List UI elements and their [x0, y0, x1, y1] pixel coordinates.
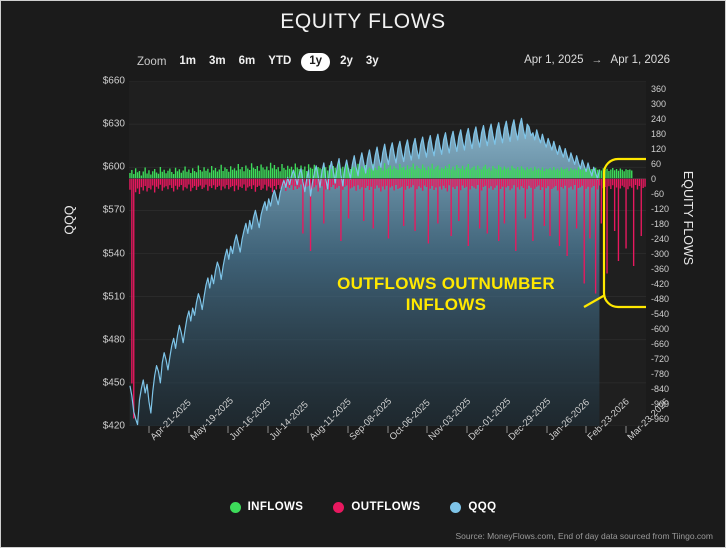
chart-bar: [627, 170, 628, 179]
chart-bar: [420, 179, 421, 188]
chart-bar: [546, 179, 547, 189]
zoom-button-3y[interactable]: 3y: [366, 56, 379, 68]
chart-bar: [433, 179, 434, 191]
chart-bar: [639, 179, 640, 187]
chart-bar: [454, 179, 455, 190]
chart-bar: [264, 170, 265, 179]
chart-bar: [146, 179, 147, 192]
chart-bar: [490, 171, 491, 179]
chart-bar: [487, 169, 488, 179]
chart-bar: [268, 170, 269, 178]
chart-bar: [428, 167, 429, 179]
y-axis-right-tick: 120: [651, 144, 666, 154]
chart-bar: [186, 172, 187, 179]
chart-bar: [201, 172, 202, 179]
chart-bar: [502, 179, 503, 187]
chart-bar: [182, 179, 183, 191]
chart-bar: [411, 167, 412, 178]
chart-bar: [532, 171, 533, 179]
chart-bar: [397, 179, 398, 190]
chart-bar: [363, 179, 364, 222]
chart-bar: [399, 164, 400, 179]
chart-bar: [449, 164, 450, 178]
chart-bar: [373, 179, 374, 229]
chart-bar: [203, 179, 204, 188]
chart-bar: [570, 179, 571, 187]
chart-bar: [620, 169, 621, 179]
chart-bar: [154, 179, 155, 193]
y-axis-left-tick: $420: [103, 421, 125, 432]
chart-bar: [620, 179, 621, 189]
chart-bar: [610, 179, 611, 190]
chart-bar: [597, 179, 598, 190]
y-axis-left-tick: $600: [103, 162, 125, 173]
chart-bar: [460, 179, 461, 191]
chart-bar: [500, 167, 501, 179]
chart-bar: [422, 179, 423, 191]
chart-bar: [606, 179, 607, 274]
chart-bar: [397, 170, 398, 179]
chart-bar: [382, 171, 383, 179]
chart-bar: [416, 179, 417, 190]
chart-bar: [230, 166, 231, 178]
chart-bar: [272, 179, 273, 193]
y-axis-right-tick: 180: [651, 129, 666, 139]
chart-bar: [234, 179, 235, 192]
chart-bar: [221, 165, 222, 179]
chart-bar: [374, 179, 375, 189]
chart-bar: [443, 179, 444, 186]
chart-bar: [146, 174, 147, 179]
zoom-label: Zoom: [137, 56, 166, 68]
chart-bar: [234, 168, 235, 178]
chart-bar: [466, 167, 467, 178]
y-axis-right-tick: -120: [651, 204, 669, 214]
y-axis-right-tick: -660: [651, 339, 669, 349]
chart-bar: [333, 179, 334, 186]
chart-bar: [179, 169, 180, 178]
chart-bar: [553, 179, 554, 188]
chart-bar: [266, 167, 267, 179]
chart-bar: [555, 179, 556, 187]
chart-bar: [549, 179, 550, 237]
chart-bar: [625, 179, 626, 249]
chart-bar: [143, 172, 144, 179]
legend-dot-icon-inflows: [230, 502, 241, 513]
chart-bar: [278, 179, 279, 186]
chart-bar: [253, 168, 254, 179]
chart-bar: [471, 179, 472, 187]
chart-bar: [494, 168, 495, 178]
chart-bar: [276, 179, 277, 190]
chart-bar: [192, 179, 193, 188]
chart-bar: [386, 179, 387, 186]
chart-bar: [268, 179, 269, 187]
chart-bar: [644, 179, 645, 187]
chart-bar: [340, 179, 341, 242]
chart-bar: [481, 170, 482, 179]
chart-bar: [416, 166, 417, 179]
chart-bar: [538, 168, 539, 178]
chart-bar: [371, 169, 372, 179]
chart-bar: [515, 179, 516, 252]
chart-bar: [470, 169, 471, 178]
chart-bar: [527, 179, 528, 190]
chart-bar: [255, 179, 256, 192]
chart-bar: [458, 168, 459, 179]
chart-bar: [198, 166, 199, 179]
chart-bar: [238, 164, 239, 179]
chart-bar: [502, 170, 503, 179]
chart-bar: [473, 179, 474, 188]
chart-bar: [574, 169, 575, 179]
chart-bar: [631, 179, 632, 188]
chart-bar: [245, 166, 246, 179]
chart-bar: [240, 179, 241, 187]
zoom-button-3m[interactable]: 3m: [209, 56, 226, 68]
chart-bar: [314, 179, 315, 188]
chart-bar: [470, 179, 471, 190]
chart-bar: [241, 167, 242, 179]
legend-item-qqq[interactable]: QQQ: [450, 501, 496, 513]
chart-bar: [312, 169, 313, 179]
chart-bar: [297, 168, 298, 179]
chart-bar: [534, 167, 535, 179]
chart-bar: [395, 168, 396, 178]
chart-bar: [179, 179, 180, 187]
chart-bar: [422, 165, 423, 179]
x-axis-tick: Oct-06-2025: [387, 426, 388, 433]
chart-bar: [144, 179, 145, 187]
chart-bar: [557, 179, 558, 191]
chart-bar: [614, 170, 615, 178]
chart-bar: [304, 167, 305, 179]
chart-bar: [572, 170, 573, 179]
chart-bar: [336, 179, 337, 188]
chart-bar: [542, 179, 543, 188]
date-range-from[interactable]: Apr 1, 2025: [524, 54, 583, 66]
chart-bar: [487, 179, 488, 234]
chart-bar: [521, 166, 522, 178]
chart-bar: [437, 166, 438, 179]
chart-bar: [418, 179, 419, 187]
y-axis-left-tick: $540: [103, 248, 125, 259]
chart-bar: [456, 165, 457, 179]
plot-area[interactable]: [129, 81, 646, 426]
chart-bar: [262, 179, 263, 189]
chart-bar: [534, 179, 535, 189]
chart-bar: [578, 167, 579, 178]
chart-bar: [435, 167, 436, 179]
x-axis-tick-mark: [347, 426, 348, 433]
chart-bar: [519, 170, 520, 179]
chart-bar: [477, 179, 478, 186]
chart-bar: [401, 179, 402, 187]
chart-bar: [165, 179, 166, 187]
chart-bar: [354, 179, 355, 187]
chart-bar: [192, 168, 193, 178]
chart-bar: [584, 168, 585, 179]
chart-bar: [551, 170, 552, 178]
chart-bar: [243, 171, 244, 178]
chart-bar: [612, 179, 613, 186]
date-range-selector: Apr 1, 2025 → Apr 1, 2026: [524, 54, 670, 66]
chart-bar: [595, 179, 596, 294]
chart-bar: [264, 179, 265, 185]
chart-bar: [468, 179, 469, 247]
chart-bar: [412, 179, 413, 186]
chart-bar: [369, 179, 370, 191]
chart-bar: [494, 179, 495, 188]
chart-bar: [274, 165, 275, 179]
chart-bar: [485, 179, 486, 186]
chart-bar: [173, 179, 174, 192]
chart-bar: [458, 179, 459, 222]
chart-bar: [460, 169, 461, 179]
chart-bar: [289, 169, 290, 179]
chart-bar: [226, 169, 227, 179]
chart-bar: [540, 179, 541, 191]
chart-bar: [152, 179, 153, 186]
chart-bar: [243, 179, 244, 185]
chart-bar: [574, 179, 575, 186]
chart-bar: [137, 172, 138, 178]
chart-bar: [359, 169, 360, 178]
x-axis-tick-mark: [148, 426, 149, 433]
chart-bar: [378, 166, 379, 179]
chart-bar: [433, 169, 434, 178]
chart-bar: [160, 167, 161, 179]
chart-bar: [393, 179, 394, 191]
chart-bar: [257, 166, 258, 179]
chart-bar: [566, 168, 567, 179]
chart-bar: [319, 168, 320, 178]
chart-bar: [589, 179, 590, 239]
chart-bar: [511, 179, 512, 189]
y-axis-left-tick: $630: [103, 119, 125, 130]
date-range-to[interactable]: Apr 1, 2026: [611, 54, 670, 66]
chart-bar: [352, 179, 353, 188]
chart-bar: [222, 171, 223, 179]
chart-bar: [390, 166, 391, 179]
zoom-button-2y[interactable]: 2y: [340, 56, 353, 68]
legend-item-outflows[interactable]: OUTFLOWS: [333, 501, 420, 513]
chart-bar: [606, 169, 607, 179]
chart-bar: [445, 179, 446, 189]
chart-bar: [141, 179, 142, 188]
chart-bar: [517, 179, 518, 188]
chart-bar: [570, 168, 571, 178]
chart-bar: [186, 179, 187, 189]
chart-bar: [623, 171, 624, 178]
zoom-button-6m[interactable]: 6m: [239, 56, 256, 68]
chart-bar: [338, 179, 339, 187]
y-axis-right-tick: -480: [651, 294, 669, 304]
chart-bar: [587, 179, 588, 187]
chart-bar: [177, 179, 178, 190]
chart-bar: [247, 169, 248, 179]
chart-bar: [498, 179, 499, 242]
chart-bar: [405, 179, 406, 190]
chart-bar: [637, 179, 638, 190]
x-axis-tick: Jun-16-2025: [228, 426, 229, 433]
chart-bar: [612, 168, 613, 179]
chart-bar: [260, 179, 261, 191]
chart-bar: [492, 179, 493, 190]
chart-bar: [255, 169, 256, 179]
chart-bar: [395, 179, 396, 186]
chart-bar: [445, 166, 446, 179]
chart-bar: [224, 179, 225, 189]
x-axis-tick-mark: [188, 426, 189, 433]
chart-bar: [519, 179, 520, 190]
zoom-button-1m[interactable]: 1m: [179, 56, 196, 68]
chart-bar: [165, 173, 166, 178]
chart-bar: [525, 170, 526, 178]
chart-bar: [471, 168, 472, 179]
chart-bar: [131, 170, 132, 179]
chart-bar: [380, 179, 381, 192]
y-axis-left-tick: $510: [103, 291, 125, 302]
chart-bar: [546, 169, 547, 179]
chart-bar: [561, 168, 562, 179]
x-axis-tick: Dec-01-2025: [467, 426, 468, 433]
chart-bar: [363, 168, 364, 178]
chart-bar: [473, 166, 474, 178]
chart-bar: [441, 179, 442, 190]
chart-bar: [405, 170, 406, 179]
zoom-button-ytd[interactable]: YTD: [268, 56, 291, 68]
x-axis-tick-mark: [626, 426, 627, 433]
chart-bar: [346, 179, 347, 186]
chart-bar: [194, 179, 195, 187]
legend-item-inflows[interactable]: INFLOWS: [230, 501, 304, 513]
chart-bar: [447, 179, 448, 192]
x-axis-tick-mark: [467, 426, 468, 433]
chart-bar: [190, 179, 191, 192]
chart-bar: [622, 179, 623, 186]
chart-bar: [384, 163, 385, 178]
chart-bar: [536, 179, 537, 187]
chart-bar: [582, 170, 583, 179]
chart-bar: [331, 179, 332, 188]
chart-bar: [154, 169, 155, 179]
chart-bar: [167, 179, 168, 190]
chart-bar: [196, 172, 197, 178]
chart-bar: [270, 179, 271, 188]
chart-bar: [173, 174, 174, 179]
chart-bar: [481, 179, 482, 191]
chart-bar: [504, 179, 505, 224]
y-axis-right: 360300240180120600-60-120-180-240-300-36…: [651, 81, 685, 426]
chart-bar: [532, 179, 533, 242]
chart-bar: [162, 172, 163, 179]
y-axis-right-tick: 0: [651, 174, 656, 184]
chart-bar: [530, 179, 531, 188]
chart-bar: [175, 168, 176, 179]
chart-bar: [551, 179, 552, 190]
chart-bar: [426, 170, 427, 178]
chart-bar: [403, 179, 404, 227]
chart-bar: [635, 179, 636, 186]
chart-bar: [279, 179, 280, 189]
chart-bar: [160, 179, 161, 185]
zoom-button-1y[interactable]: 1y: [301, 53, 330, 72]
chart-bar: [521, 179, 522, 187]
chart-bar: [559, 179, 560, 247]
chart-bar: [228, 172, 229, 179]
x-axis-tick: Mar-23-2026: [626, 426, 627, 433]
chart-bar: [251, 179, 252, 190]
chart-bar: [205, 179, 206, 185]
y-axis-right-tick: -840: [651, 384, 669, 394]
chart-bar: [464, 170, 465, 179]
equity-flows-chart-widget: EQUITY FLOWS Zoom 1m 3m 6m YTD 1y 2y 3y …: [0, 0, 726, 548]
chart-bar: [587, 169, 588, 179]
chart-bar: [576, 170, 577, 178]
chart-bar: [380, 167, 381, 179]
chart-bar: [629, 179, 630, 187]
chart-bar: [584, 179, 585, 284]
chart-bar: [437, 179, 438, 224]
chart-bar: [563, 179, 564, 189]
chart-bar: [177, 171, 178, 178]
chart-bar: [496, 179, 497, 186]
chart-bar: [215, 168, 216, 179]
chart-bar: [365, 179, 366, 189]
chart-bar: [357, 179, 358, 186]
chart-bar: [283, 168, 284, 179]
chart-bar: [240, 169, 241, 178]
chart-bar: [625, 169, 626, 178]
chart-bar: [538, 179, 539, 186]
chart-bar: [158, 174, 159, 179]
chart-bar: [245, 179, 246, 191]
chart-bar: [504, 167, 505, 179]
chart-bar: [454, 170, 455, 178]
chart-bar: [547, 169, 548, 178]
chart-bar: [203, 167, 204, 178]
chart-bar: [156, 179, 157, 187]
x-axis-tick-mark: [268, 426, 269, 433]
chart-bar: [557, 169, 558, 179]
chart-bar: [447, 168, 448, 178]
legend-label-outflows: OUTFLOWS: [351, 501, 420, 513]
chart-bar: [479, 179, 480, 229]
chart-bar: [207, 179, 208, 191]
chart-bar: [209, 173, 210, 179]
chart-bar: [285, 170, 286, 179]
chart-bar: [536, 170, 537, 179]
chart-bar: [414, 170, 415, 179]
chart-bar: [148, 179, 149, 189]
chart-bar: [392, 179, 393, 187]
chart-bar: [540, 170, 541, 179]
chart-bar: [350, 179, 351, 189]
legend-label-qqq: QQQ: [468, 501, 496, 513]
chart-bar: [418, 168, 419, 179]
x-axis-tick: Jul-14-2025: [268, 426, 269, 433]
chart-bar: [215, 179, 216, 190]
chart-bar: [148, 170, 149, 178]
chart-bar: [485, 165, 486, 179]
x-axis-tick: May-19-2025: [188, 426, 189, 433]
page-title: EQUITY FLOWS: [1, 10, 725, 34]
chart-bar: [614, 179, 615, 232]
chart-bar: [452, 167, 453, 179]
chart-bar: [414, 179, 415, 232]
chart-bar: [616, 179, 617, 188]
